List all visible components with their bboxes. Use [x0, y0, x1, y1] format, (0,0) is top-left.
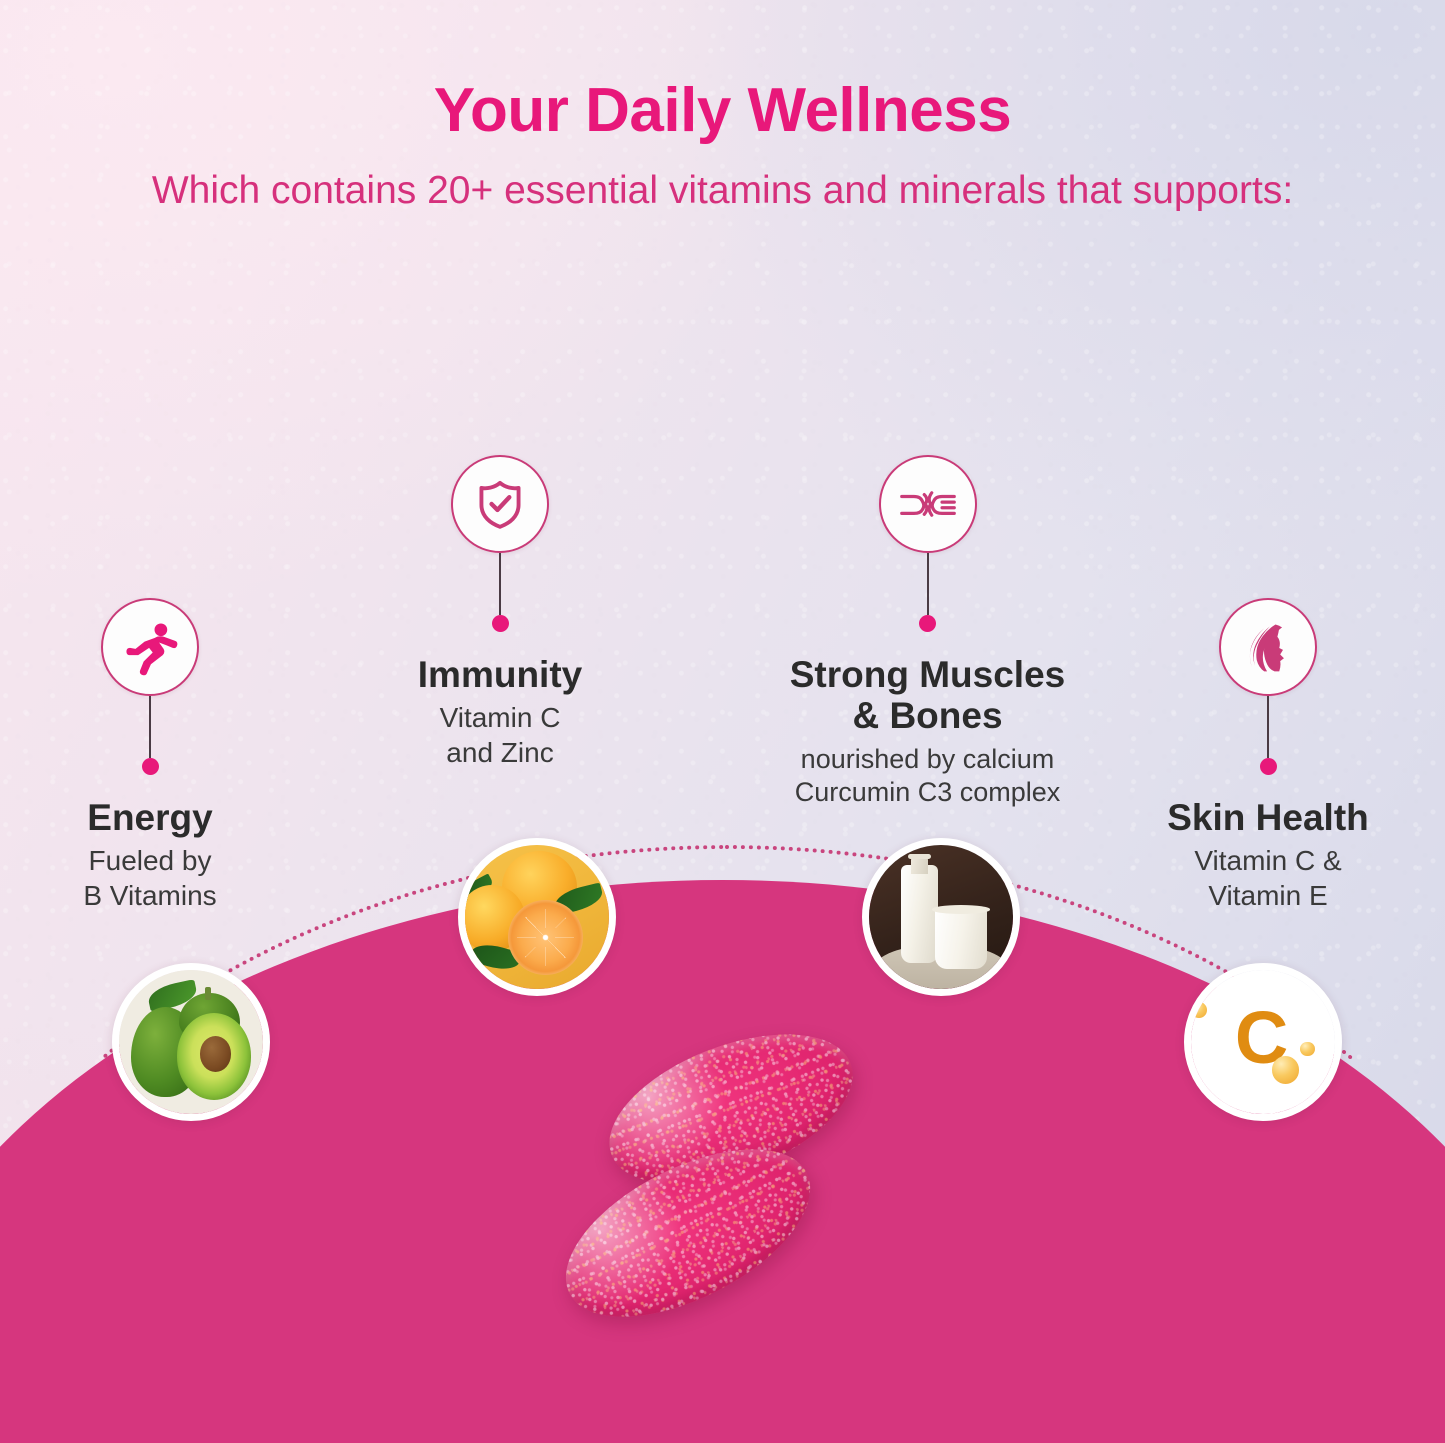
product-tablets [545, 1040, 905, 1380]
page-title: Your Daily Wellness [0, 0, 1445, 143]
milk-image [869, 845, 1013, 989]
feature-subtitle: nourished by calcium Curcumin C3 complex [740, 737, 1115, 809]
feature-text-block: Skin Health Vitamin C & Vitamin E [1118, 775, 1418, 913]
connector-dot [919, 615, 936, 632]
connector-stem [927, 553, 929, 615]
avocado-stem [205, 987, 211, 1000]
vitamin-bubble [1191, 1002, 1207, 1018]
avocado-photo [112, 963, 270, 1121]
orange-half [508, 900, 583, 975]
milk-bottle-lip [908, 854, 931, 860]
milk-bottle [901, 865, 938, 963]
citrus-image [465, 845, 609, 989]
feature-subtitle: Fueled by B Vitamins [15, 838, 285, 912]
feature-skin: Skin Health Vitamin C & Vitamin E [1118, 598, 1418, 913]
connector-dot [142, 758, 159, 775]
header: Your Daily Wellness Which contains 20+ e… [0, 0, 1445, 218]
woman-face-icon [1219, 598, 1317, 696]
feature-title: Immunity [365, 654, 635, 695]
wellness-infographic: Your Daily Wellness Which contains 20+ e… [0, 0, 1445, 1443]
vitamin-c-photo: C [1184, 963, 1342, 1121]
feature-text-block: Strong Muscles & Bones nourished by calc… [740, 632, 1115, 809]
feature-energy: Energy Fueled by B Vitamins [15, 598, 285, 913]
feature-title: Strong Muscles & Bones [740, 654, 1115, 737]
vitamin-bubble [1272, 1056, 1299, 1083]
feature-immunity: Immunity Vitamin C and Zinc [365, 455, 635, 770]
connector-stem [499, 553, 501, 615]
vitamin-bubble [1300, 1042, 1314, 1056]
avocado-image [119, 970, 263, 1114]
feature-text-block: Energy Fueled by B Vitamins [15, 775, 285, 913]
feature-bones: Strong Muscles & Bones nourished by calc… [740, 455, 1115, 809]
running-person-icon [101, 598, 199, 696]
milk-bottle-neck [911, 857, 928, 874]
feature-title: Energy [15, 797, 285, 838]
citrus-photo [458, 838, 616, 996]
feature-subtitle: Vitamin C and Zinc [365, 695, 635, 769]
feature-title: Skin Health [1118, 797, 1418, 838]
milk-photo [862, 838, 1020, 996]
connector-dot [492, 615, 509, 632]
connector-stem [149, 696, 151, 758]
feature-text-block: Immunity Vitamin C and Zinc [365, 632, 635, 770]
milk-glass [935, 908, 987, 968]
connector-dot [1260, 758, 1277, 775]
bone-joint-icon [879, 455, 977, 553]
connector-stem [1267, 696, 1269, 758]
vitamin-c-image: C [1191, 970, 1335, 1114]
shield-check-icon [451, 455, 549, 553]
feature-subtitle: Vitamin C & Vitamin E [1118, 838, 1418, 912]
page-subtitle: Which contains 20+ essential vitamins an… [133, 143, 1313, 218]
